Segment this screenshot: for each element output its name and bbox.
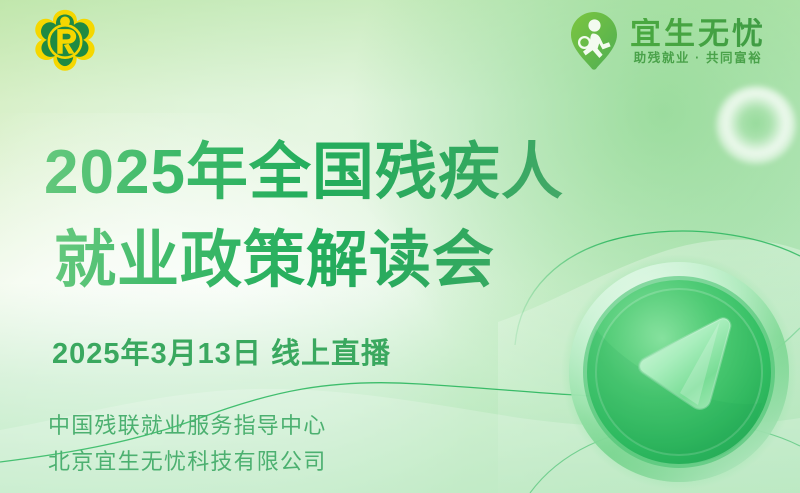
brand-text-block: 宜生无忧 助残就业 · 共同富裕 <box>630 18 766 65</box>
headline-line-2: 就业政策解读会 <box>54 217 604 305</box>
event-poster: 宜生无忧 助残就业 · 共同富裕 2025年全国残疾人 就业政策解读会 2025… <box>0 0 800 493</box>
headline-line-1: 2025年全国残疾人 <box>44 129 604 217</box>
brand-name: 宜生无忧 <box>630 18 766 49</box>
page-title: 2025年全国残疾人 就业政策解读会 <box>44 129 604 305</box>
event-datetime: 2025年3月13日 线上直播 <box>52 330 391 372</box>
play-button[interactable] <box>560 253 798 491</box>
location-pin-accessibility-icon <box>569 10 619 72</box>
cdpf-emblem-icon <box>26 6 104 80</box>
organizer-line: 中国残联就业服务指导中心 <box>48 408 326 444</box>
brand-lockup: 宜生无忧 助残就业 · 共同富裕 <box>569 10 766 72</box>
brand-slogan: 助残就业 · 共同富裕 <box>630 52 766 65</box>
organizer-list: 中国残联就业服务指导中心 北京宜生无忧科技有限公司 <box>48 408 326 481</box>
bubble-decoration-icon <box>716 86 796 164</box>
organizer-line: 北京宜生无忧科技有限公司 <box>48 444 326 480</box>
